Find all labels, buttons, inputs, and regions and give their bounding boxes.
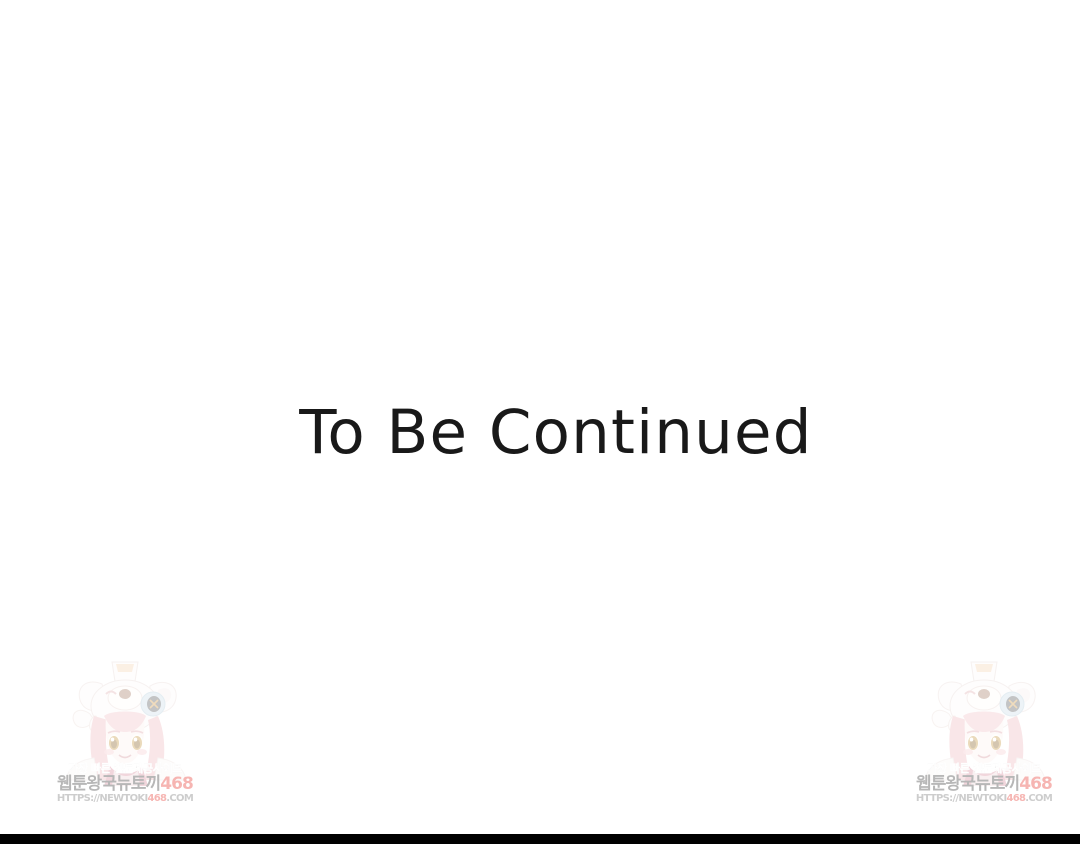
comic-panel-page: To Be Continued — [0, 0, 1080, 844]
anime-girl-bunny-hood-icon — [54, 658, 196, 786]
promo-url-number: 468 — [1007, 793, 1026, 804]
promo-url-row: HTTPS://NEWTOKI468.COM — [54, 794, 196, 804]
promo-url-prefix: HTTPS://NEWTOKI — [916, 793, 1007, 804]
promo-site-name: 웹툰왕국뉴토끼 — [57, 774, 160, 794]
watermark-bottom-right: 가장 빠른 웹툰제공사이트 웹툰왕국뉴토끼468 HTTPS://NEWTOKI… — [913, 658, 1055, 826]
anime-girl-bunny-hood-icon — [913, 658, 1055, 786]
watermark-bottom-left: 가장 빠른 웹툰제공사이트 웹툰왕국뉴토끼468 HTTPS://NEWTOKI… — [54, 658, 196, 826]
promo-site-name-row: 웹툰왕국뉴토끼468 — [913, 776, 1055, 793]
promo-site-number: 468 — [160, 774, 193, 794]
promo-site-number: 468 — [1019, 774, 1052, 794]
caption-area: To Be Continued — [0, 396, 1080, 468]
promo-url-row: HTTPS://NEWTOKI468.COM — [913, 794, 1055, 804]
promo-banner: 가장 빠른 웹툰제공사이트 웹툰왕국뉴토끼468 HTTPS://NEWTOKI… — [54, 763, 196, 804]
promo-url-suffix: .COM — [166, 793, 193, 804]
promo-url-prefix: HTTPS://NEWTOKI — [57, 793, 148, 804]
promo-tagline: 가장 빠른 웹툰제공사이트 — [54, 763, 196, 774]
to-be-continued-text: To Be Continued — [299, 402, 812, 463]
promo-site-name-row: 웹툰왕국뉴토끼468 — [54, 776, 196, 793]
promo-url-suffix: .COM — [1025, 793, 1052, 804]
promo-site-name: 웹툰왕국뉴토끼 — [916, 774, 1019, 794]
promo-url-number: 468 — [148, 793, 167, 804]
promo-banner: 가장 빠른 웹툰제공사이트 웹툰왕국뉴토끼468 HTTPS://NEWTOKI… — [913, 763, 1055, 804]
promo-tagline: 가장 빠른 웹툰제공사이트 — [913, 763, 1055, 774]
bottom-black-bar — [0, 834, 1080, 844]
